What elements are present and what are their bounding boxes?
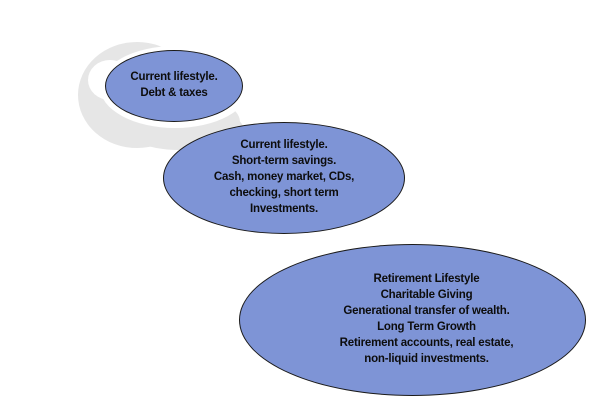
diagram-canvas: Current lifestyle. Debt & taxes Current …: [0, 0, 600, 400]
ellipse-retirement-lifestyle[interactable]: Retirement Lifestyle Charitable Giving G…: [239, 244, 586, 396]
ellipse-short-term-savings[interactable]: Current lifestyle. Short-term savings. C…: [163, 122, 405, 234]
ellipse-3-label: Retirement Lifestyle Charitable Giving G…: [334, 272, 520, 367]
ellipse-current-lifestyle-debt-taxes[interactable]: Current lifestyle. Debt & taxes: [105, 50, 243, 122]
ellipse-2-label: Current lifestyle. Short-term savings. C…: [208, 138, 360, 217]
ellipse-1-label: Current lifestyle. Debt & taxes: [124, 70, 223, 102]
